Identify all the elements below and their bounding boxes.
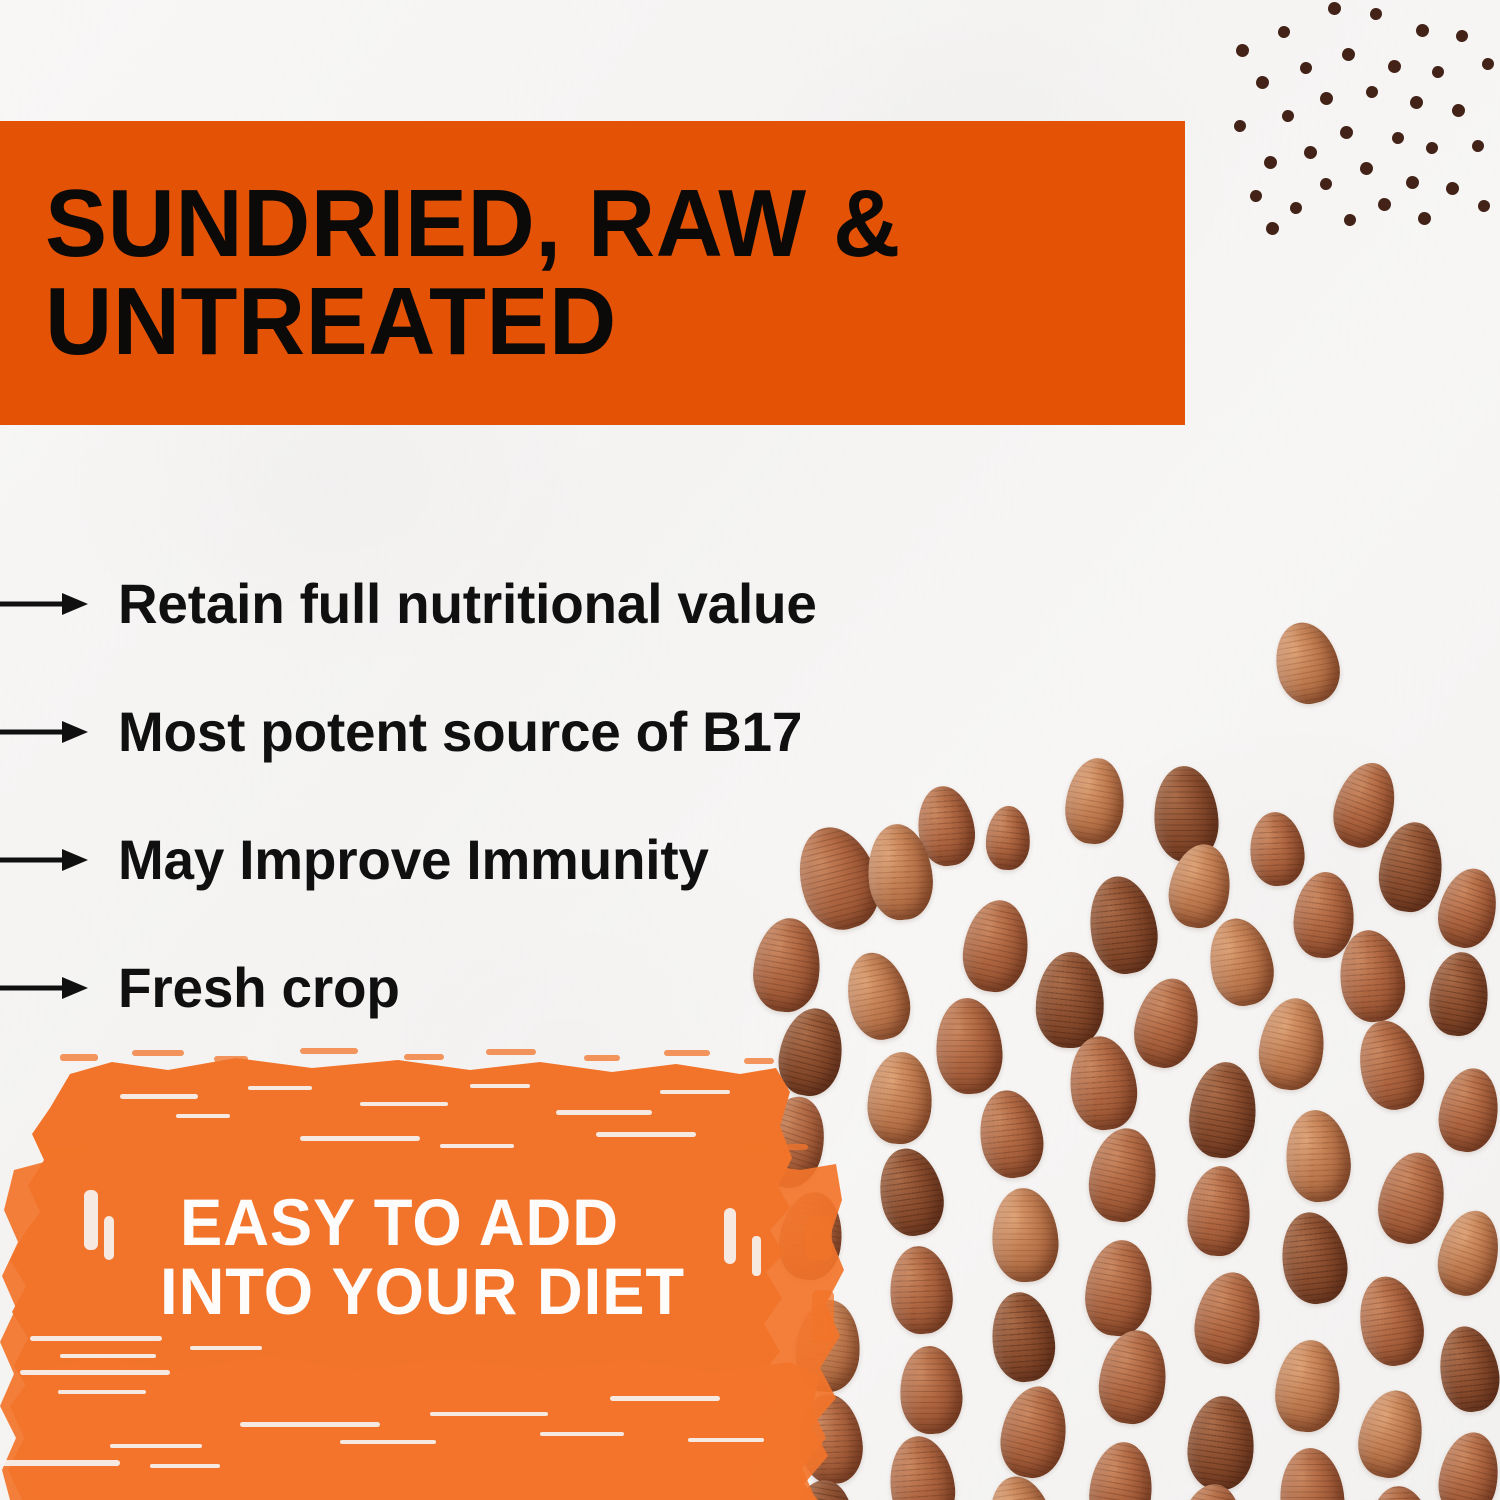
scattered-dots-pattern (1220, 0, 1500, 230)
header-title-line-1: SUNDRIED, RAW & (45, 175, 1151, 273)
benefits-list: Retain full nutritional value Most poten… (0, 540, 1000, 1052)
apricot-kernel (1371, 1146, 1453, 1249)
apricot-kernel (872, 1143, 951, 1242)
decorative-dot (1278, 26, 1290, 38)
decorative-dot (1370, 8, 1382, 20)
decorative-dot (1282, 110, 1294, 122)
decorative-dot (1446, 182, 1459, 195)
decorative-dot (1340, 126, 1353, 139)
decorative-dot (1482, 58, 1494, 70)
decorative-dot (1328, 2, 1341, 15)
benefit-label: Most potent source of B17 (118, 704, 802, 760)
apricot-kernel (1163, 839, 1237, 932)
decorative-dot (1320, 92, 1333, 105)
decorative-dot (1264, 156, 1277, 169)
apricot-kernel (1084, 1124, 1162, 1226)
apricot-kernel (1430, 1204, 1500, 1301)
apricot-kernel (1374, 818, 1448, 916)
apricot-kernel (1325, 756, 1404, 855)
apricot-kernel (1277, 1446, 1347, 1500)
apricot-kernel (1202, 913, 1281, 1012)
apricot-kernel (1334, 926, 1410, 1026)
apricot-kernel (1185, 1394, 1257, 1492)
decorative-dot (1478, 200, 1490, 212)
decorative-dot (1410, 96, 1423, 109)
apricot-kernel (1185, 1059, 1261, 1161)
header-banner: SUNDRIED, RAW & UNTREATED (0, 121, 1185, 425)
apricot-kernel (1254, 994, 1330, 1094)
benefit-label: Retain full nutritional value (118, 576, 817, 632)
apricot-kernel (1291, 870, 1357, 960)
apricot-kernel (1350, 1014, 1432, 1116)
apricot-kernel (897, 1344, 965, 1436)
header-title-line-2: UNTREATED (45, 273, 1151, 371)
apricot-kernel (1094, 1326, 1172, 1428)
decorative-dot (1300, 62, 1312, 74)
apricot-kernel (886, 1243, 957, 1337)
arrow-right-icon (0, 845, 90, 875)
decorative-dot (1360, 162, 1373, 175)
apricot-kernel (884, 1432, 960, 1500)
apricot-kernel (1274, 1207, 1353, 1309)
apricot-kernel (1185, 1164, 1253, 1258)
product-infographic: SUNDRIED, RAW & UNTREATED Retain full nu… (0, 0, 1500, 1500)
apricot-kernel (1431, 862, 1500, 953)
decorative-dot (1388, 60, 1401, 73)
apricot-kernel (994, 1381, 1073, 1483)
decorative-dot (1418, 212, 1431, 225)
apricot-kernel (1246, 809, 1307, 888)
apricot-kernel (989, 1186, 1061, 1284)
apricot-kernel (1366, 1483, 1437, 1500)
apricot-kernel (973, 1085, 1049, 1182)
apricot-kernel (1062, 755, 1129, 847)
decorative-dot (1320, 178, 1332, 190)
decorative-dot (1266, 222, 1279, 235)
benefit-label: May Improve Immunity (118, 832, 709, 888)
benefit-item: May Improve Immunity (0, 796, 1000, 924)
apricot-kernel (1034, 951, 1105, 1049)
apricot-kernel (1085, 1439, 1156, 1500)
arrow-right-icon (0, 973, 90, 1003)
apricot-kernel (1351, 1271, 1430, 1372)
decorative-dot (1456, 30, 1468, 42)
apricot-kernel (1151, 764, 1222, 864)
benefit-item: Retain full nutritional value (0, 540, 1000, 668)
decorative-dot (1426, 142, 1438, 154)
apricot-kernel (1433, 1322, 1500, 1417)
decorative-dot (1236, 44, 1249, 57)
callout-brush-banner: EASY TO ADD INTO YOUR DIET (0, 1040, 880, 1500)
apricot-kernel (1281, 1107, 1354, 1205)
apricot-kernel (1352, 1385, 1431, 1484)
decorative-dot (1250, 190, 1262, 202)
decorative-dot (1344, 214, 1356, 226)
callout-text: EASY TO ADD INTO YOUR DIET (180, 1188, 840, 1325)
decorative-dot (1378, 198, 1391, 211)
apricot-kernel (1271, 1337, 1344, 1435)
decorative-dot (1290, 202, 1302, 214)
decorative-dot (1406, 176, 1419, 189)
decorative-dot (1234, 120, 1246, 132)
apricot-kernel (1426, 949, 1492, 1039)
decorative-dot (1392, 132, 1404, 144)
benefit-item: Fresh crop (0, 924, 1000, 1052)
apricot-kernel (1081, 1237, 1157, 1339)
apricot-kernel (1127, 973, 1206, 1074)
benefit-label: Fresh crop (118, 960, 400, 1016)
decorative-dot (1452, 104, 1465, 117)
apricot-kernel (1064, 1032, 1142, 1134)
apricot-kernel (1433, 1428, 1500, 1500)
decorative-dot (1416, 24, 1429, 37)
decorative-dot (1432, 66, 1444, 78)
benefit-item: Most potent source of B17 (0, 668, 1000, 796)
apricot-kernel (1188, 1267, 1267, 1369)
apricot-kernel (1082, 871, 1164, 979)
callout-line-2: INTO YOUR DIET (160, 1257, 813, 1326)
decorative-dot (1366, 86, 1378, 98)
decorative-dot (1304, 146, 1317, 159)
apricot-kernel (982, 1471, 1061, 1500)
apricot-kernel (1174, 1480, 1248, 1500)
decorative-dot (1256, 76, 1269, 89)
arrow-right-icon (0, 717, 90, 747)
apricot-kernel (1433, 1064, 1500, 1157)
arrow-right-icon (0, 589, 90, 619)
apricot-kernel (1267, 616, 1347, 711)
apricot-kernel (986, 1288, 1060, 1386)
callout-line-1: EASY TO ADD (180, 1188, 814, 1257)
decorative-dot (1342, 48, 1355, 61)
decorative-dot (1472, 140, 1484, 152)
